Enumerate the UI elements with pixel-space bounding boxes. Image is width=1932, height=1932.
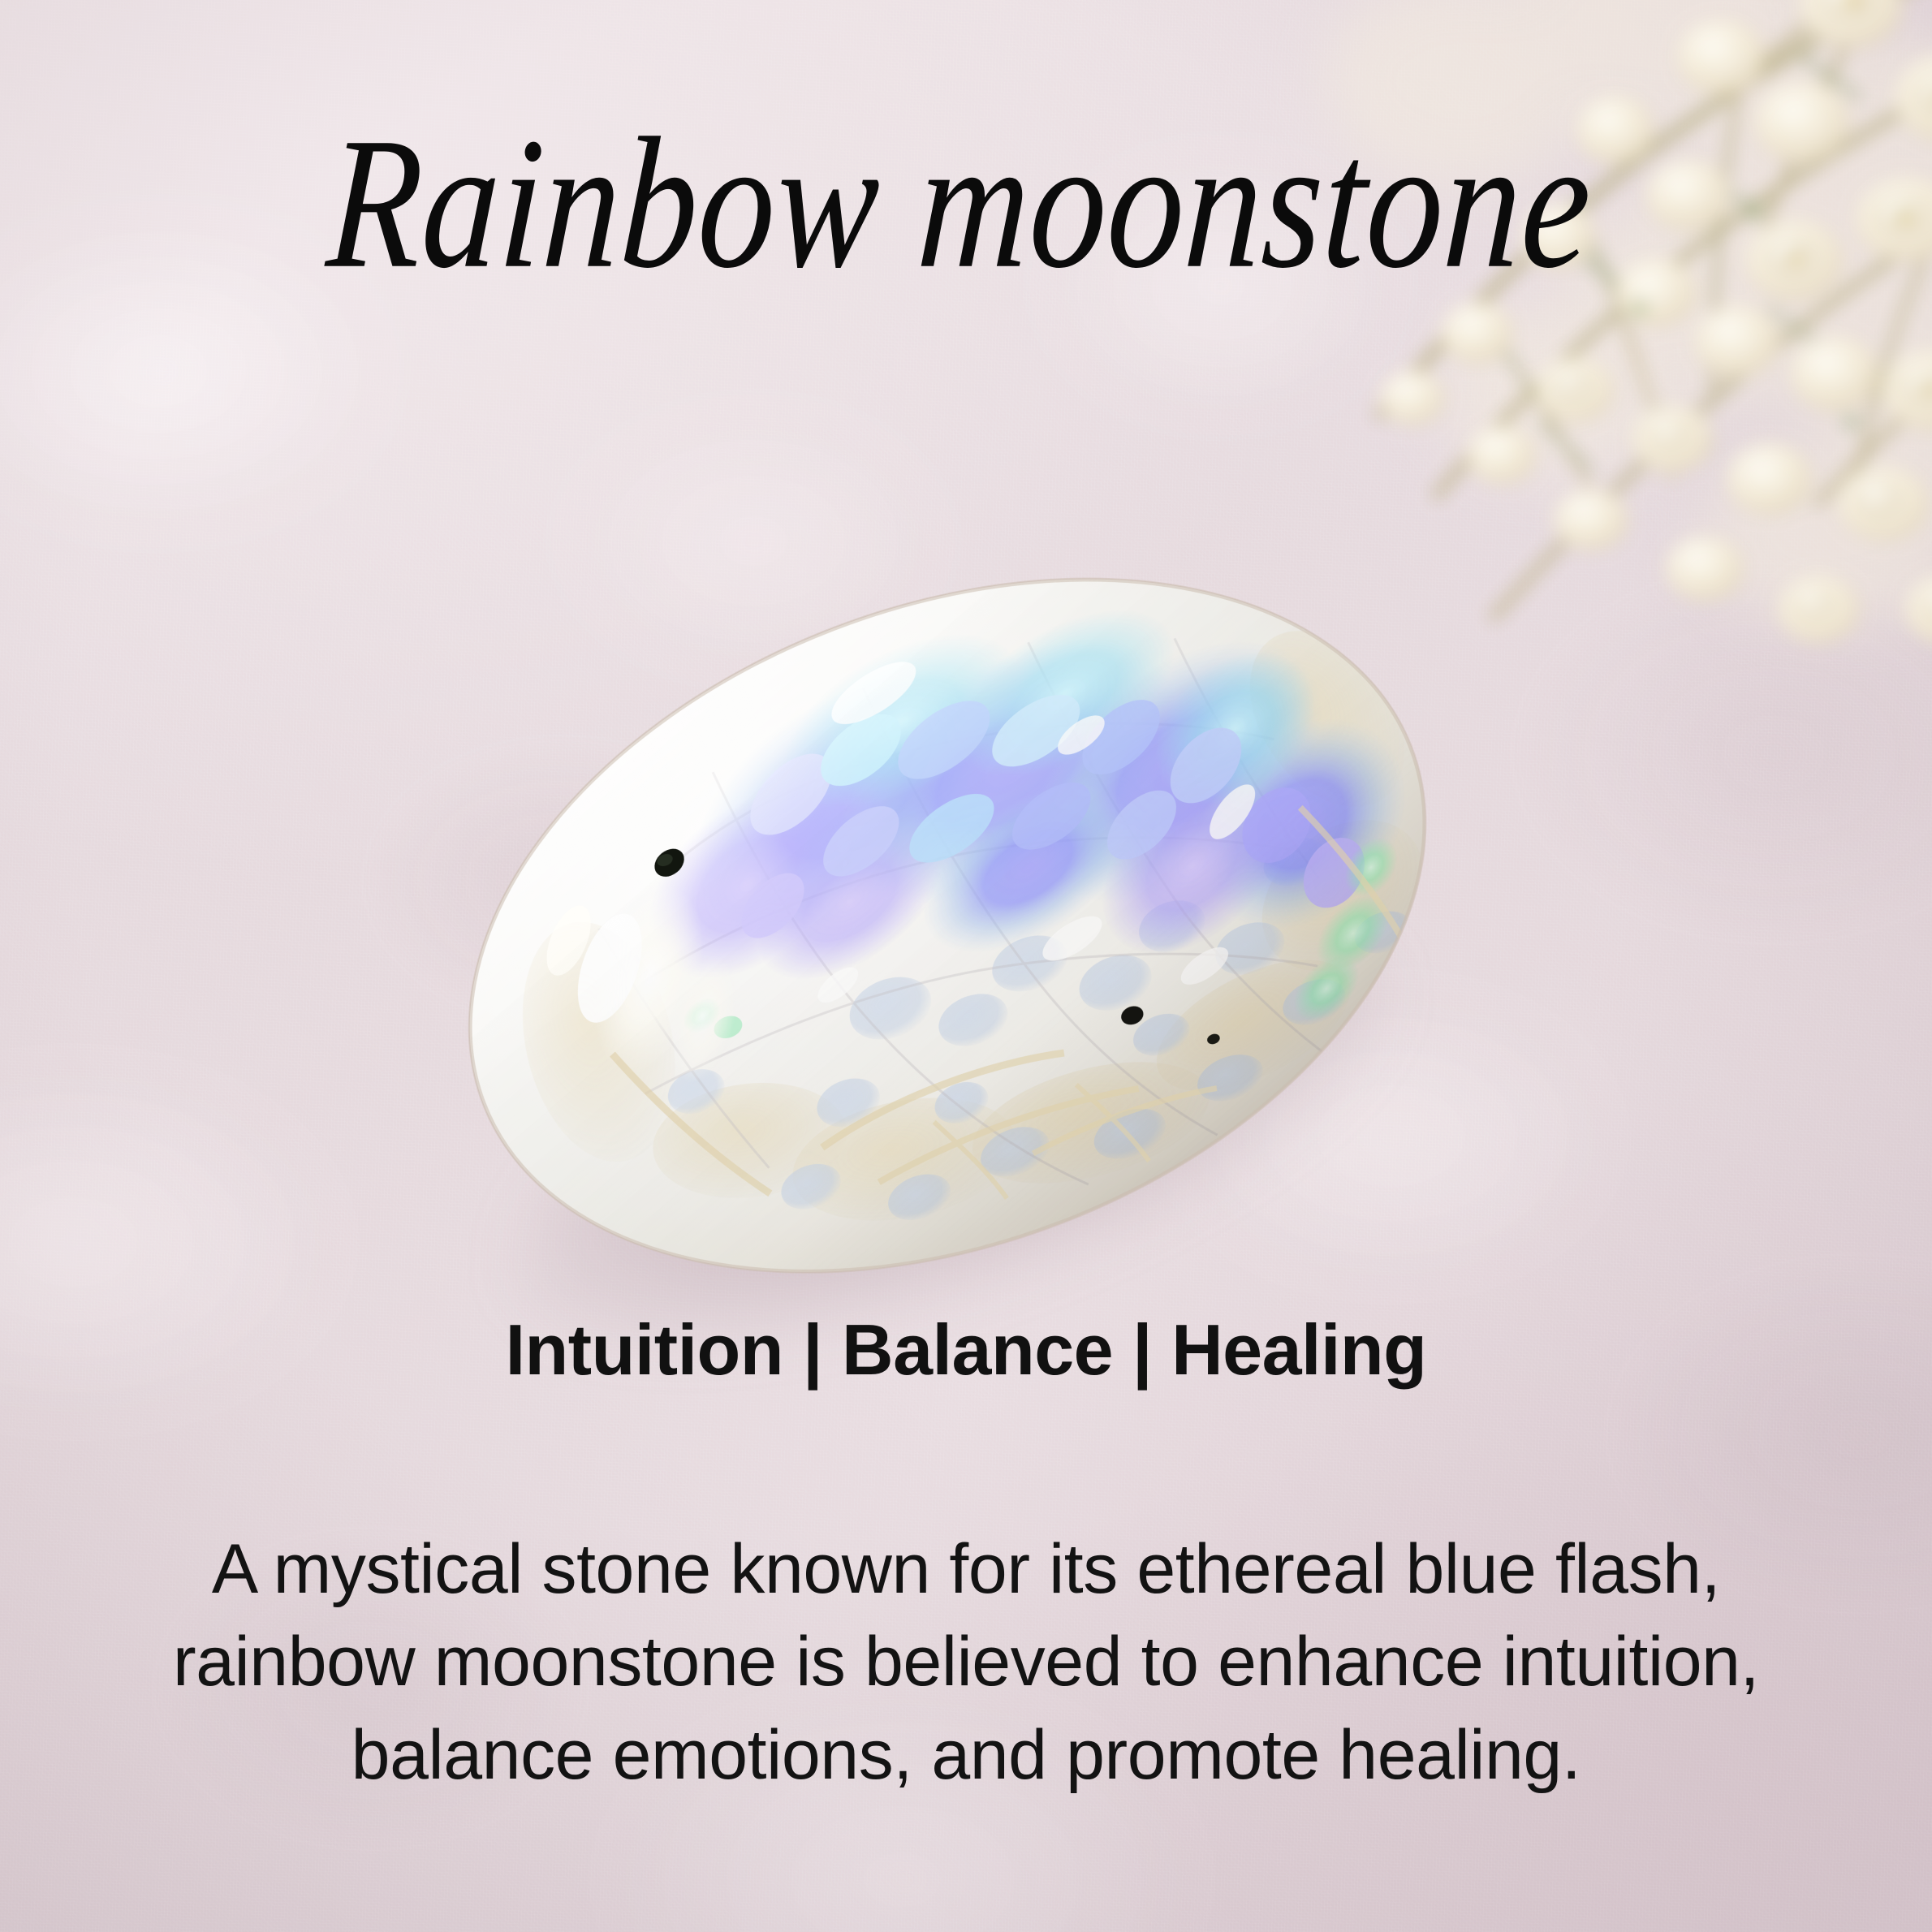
- description-line-3: balance emotions, and promote healing.: [49, 1709, 1883, 1801]
- description-line-1: A mystical stone known for its ethereal …: [49, 1523, 1883, 1615]
- crystal-info-card: Rainbow moonstone Intuition | Balance | …: [0, 0, 1932, 1932]
- page-title: Rainbow moonstone: [28, 105, 1903, 302]
- description-text: A mystical stone known for its ethereal …: [49, 1523, 1883, 1801]
- rainbow-moonstone-photo: [442, 601, 1453, 1250]
- keyword-properties-line: Intuition | Balance | Healing: [0, 1309, 1932, 1391]
- description-line-2: rainbow moonstone is believed to enhance…: [49, 1615, 1883, 1708]
